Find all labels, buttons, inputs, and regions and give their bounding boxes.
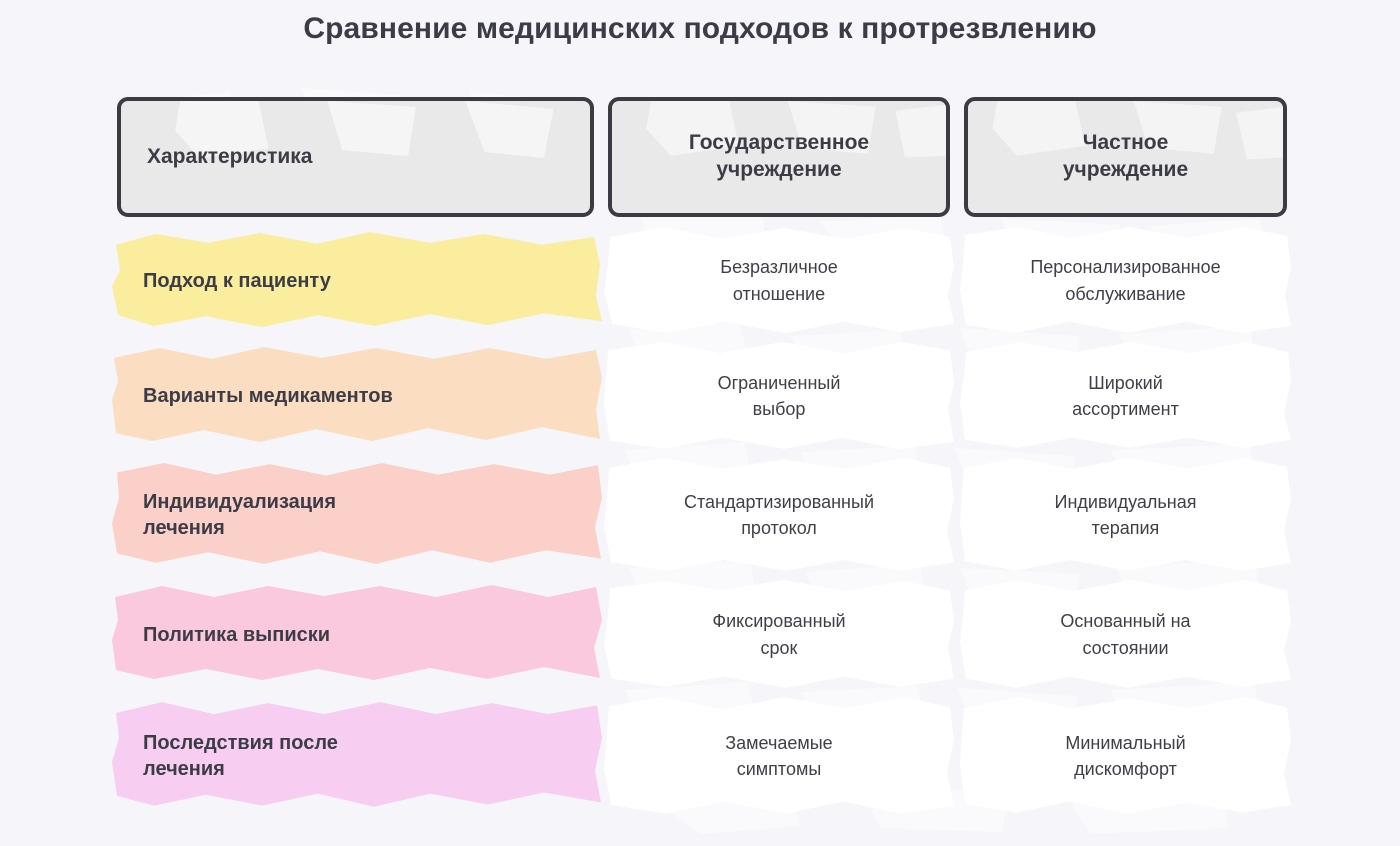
infographic-stage: Сравнение медицинских подходов к протрез… [0,0,1400,846]
row-label-cell[interactable]: Политика выписки [117,576,594,693]
value-text: Замечаемыесимптомы [725,730,832,782]
row-label-cell[interactable]: Подход к пациенту [117,223,594,338]
value-text: Основанный насостоянии [1060,608,1190,660]
value-text: Минимальныйдискомфорт [1065,730,1185,782]
row-value-cell-private[interactable]: Широкийассортимент [964,338,1287,454]
value-text: Безразличноеотношение [720,254,837,306]
page-title: Сравнение медицинских подходов к протрез… [0,12,1400,46]
header-cell-private-institution[interactable]: Частноеучреждение [964,97,1287,217]
value-text: Индивидуальнаятерапия [1055,489,1197,541]
row-label-cell[interactable]: Индивидуализациялечения [117,454,594,576]
table-body: Подход к пациенту Безразличноеотношение [117,223,1287,819]
value-text: Фиксированныйсрок [712,608,845,660]
row-value-cell-private[interactable]: Основанный насостоянии [964,576,1287,693]
row-label-text: Варианты медикаментов [143,383,393,409]
value-text: Стандартизированныйпротокол [684,489,874,541]
row-value-cell-state[interactable]: Ограниченныйвыбор [608,338,950,454]
row-value-cell-private[interactable]: Персонализированноеобслуживание [964,223,1287,338]
header-cell-characteristic[interactable]: Характеристика [117,97,594,217]
row-label-text: Подход к пациенту [143,268,331,294]
row-value-cell-state[interactable]: Безразличноеотношение [608,223,950,338]
row-value-cell-state[interactable]: Замечаемыесимптомы [608,693,950,819]
value-text: Широкийассортимент [1072,370,1179,422]
table-header-row: Характеристика Государственноеучреждение [117,97,1287,217]
row-label-text: Индивидуализациялечения [143,489,336,541]
value-text: Ограниченныйвыбор [718,370,841,422]
header-label-state-institution: Государственноеучреждение [630,130,928,184]
value-text: Персонализированноеобслуживание [1030,254,1220,306]
table-row: Последствия послелечения Замечаемыесимпт… [117,693,1287,819]
comparison-table: Характеристика Государственноеучреждение [117,97,1287,819]
row-value-cell-private[interactable]: Индивидуальнаятерапия [964,454,1287,576]
row-label-cell[interactable]: Последствия послелечения [117,693,594,819]
header-label-characteristic: Характеристика [147,144,564,171]
header-label-private-institution: Частноеучреждение [986,130,1265,184]
row-label-cell[interactable]: Варианты медикаментов [117,338,594,454]
table-row: Индивидуализациялечения Стандартизирован… [117,454,1287,576]
table-row: Политика выписки Фиксированныйсрок [117,576,1287,693]
row-label-text: Политика выписки [143,622,330,648]
row-value-cell-state[interactable]: Стандартизированныйпротокол [608,454,950,576]
table-row: Варианты медикаментов Ограниченныйвыбор [117,338,1287,454]
row-label-text: Последствия послелечения [143,730,338,782]
header-cell-state-institution[interactable]: Государственноеучреждение [608,97,950,217]
row-value-cell-state[interactable]: Фиксированныйсрок [608,576,950,693]
row-value-cell-private[interactable]: Минимальныйдискомфорт [964,693,1287,819]
table-row: Подход к пациенту Безразличноеотношение [117,223,1287,338]
